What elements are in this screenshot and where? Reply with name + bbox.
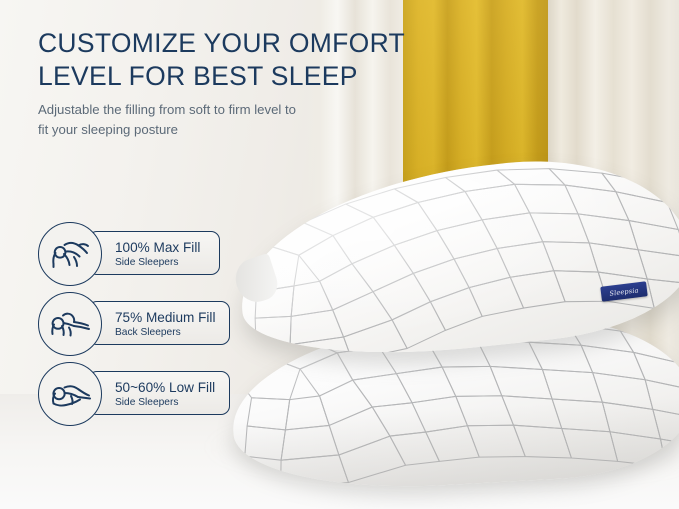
low-fill-side-sleeper-icon (38, 362, 102, 426)
feature-title: 100% Max Fill (115, 240, 205, 256)
feature-pill: 50~60% Low Fill Side Sleepers (88, 371, 230, 415)
page-title: CUSTOMIZE YOUR OMFORT LEVEL FOR BEST SLE… (38, 27, 428, 93)
feature-subtitle: Side Sleepers (115, 397, 215, 410)
headline-line-1: CUSTOMIZE YOUR OMFORT (38, 27, 428, 60)
feature-pill: 75% Medium Fill Back Sleepers (88, 301, 230, 345)
marketing-banner: Sleepsia CUSTOMIZE YOUR OMFORT LEVEL FOR… (0, 0, 679, 509)
back-sleeper-icon (38, 292, 102, 356)
side-sleeper-icon (38, 222, 102, 286)
feature-title: 75% Medium Fill (115, 310, 215, 326)
feature-subtitle: Back Sleepers (115, 327, 215, 340)
brand-tag-text: Sleepsia (609, 286, 639, 298)
feature-pill: 100% Max Fill Side Sleepers (88, 231, 220, 275)
headline-line-2: LEVEL FOR BEST SLEEP (38, 60, 428, 93)
feature-title: 50~60% Low Fill (115, 380, 215, 396)
subtitle-line-2: fit your sleeping posture (38, 120, 348, 140)
subtitle: Adjustable the filling from soft to firm… (38, 100, 348, 141)
feature-subtitle: Side Sleepers (115, 257, 205, 270)
subtitle-line-1: Adjustable the filling from soft to firm… (38, 100, 348, 120)
